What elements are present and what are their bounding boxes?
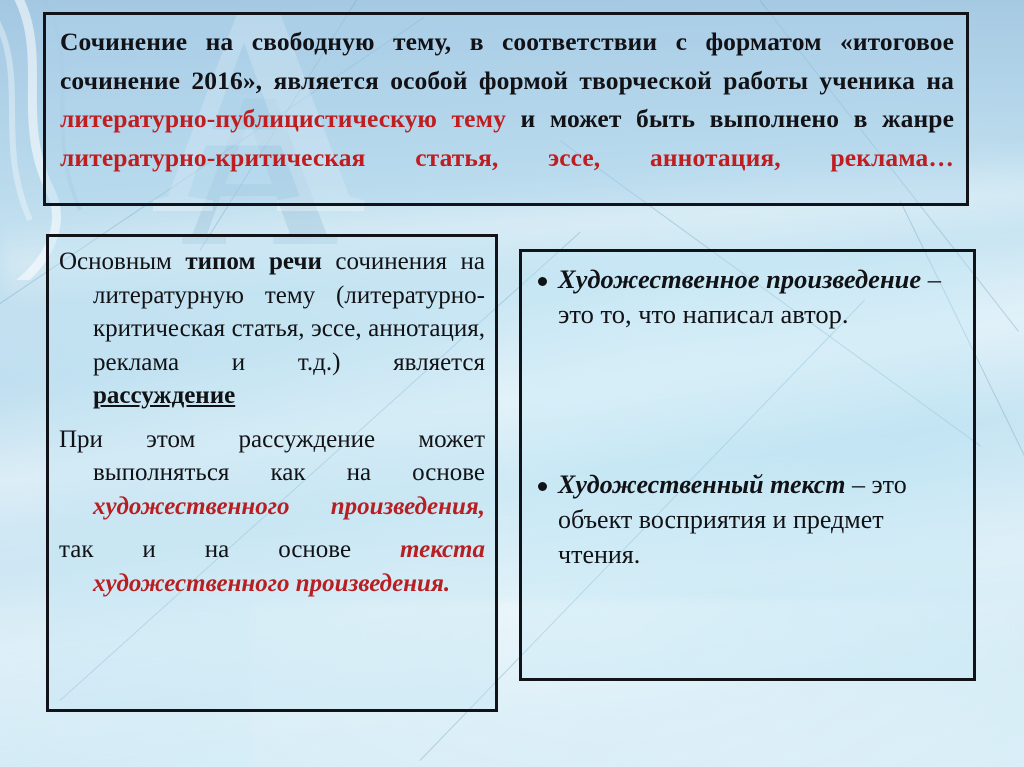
- left-p2-part3: ,: [479, 493, 485, 520]
- top-text-segment-2-highlight: литературно-публицистическую тему: [60, 104, 506, 133]
- bullet-2-text: Художественный текст – это объект воспри…: [558, 467, 961, 572]
- top-text-segment-4-highlight: литературно-критическая статья, эссе, ан…: [60, 143, 954, 172]
- left-p1-bold-term: типом речи: [185, 248, 322, 275]
- bullet-1-term: Художественное произведение: [558, 264, 921, 294]
- left-paragraph-2: При этом рассуждение может выполняться к…: [59, 423, 485, 524]
- left-paragraph-1: Основным типом речи сочинения на литерат…: [59, 245, 485, 413]
- left-p3-part1: так и на основе: [59, 536, 400, 563]
- top-statement-box: Сочинение на свободную тему, в соответст…: [43, 12, 969, 206]
- bullet-2-term: Художественный текст: [558, 470, 846, 499]
- top-text-segment-3: и может быть выполнено в жанре: [506, 104, 954, 133]
- left-definition-box: Основным типом речи сочинения на литерат…: [46, 234, 498, 712]
- left-p2-highlight: художественного произведения: [93, 493, 479, 520]
- left-p2-part1: При этом рассуждение может выполняться к…: [59, 426, 485, 487]
- right-definition-box: Художественное произведение – это то, чт…: [519, 249, 976, 681]
- top-statement-text: Сочинение на свободную тему, в соответст…: [60, 23, 954, 177]
- bullet-1-text: Художественное произведение – это то, чт…: [558, 262, 961, 332]
- list-item: Художественное произведение – это то, чт…: [534, 262, 961, 332]
- list-item: Художественный текст – это объект воспри…: [534, 467, 961, 572]
- left-paragraph-3: так и на основе текста художественного п…: [59, 533, 485, 600]
- left-p1-part1: Основным: [59, 248, 185, 275]
- bullet-dot-icon: [538, 482, 547, 491]
- slide-canvas: A A Сочинение на свободную тему, в соотв…: [0, 0, 1024, 767]
- bullet-dot-icon: [538, 277, 547, 286]
- left-p1-underlined-term: рассуждение: [93, 382, 235, 409]
- top-text-segment-1: Сочинение на свободную тему, в соответст…: [60, 27, 954, 95]
